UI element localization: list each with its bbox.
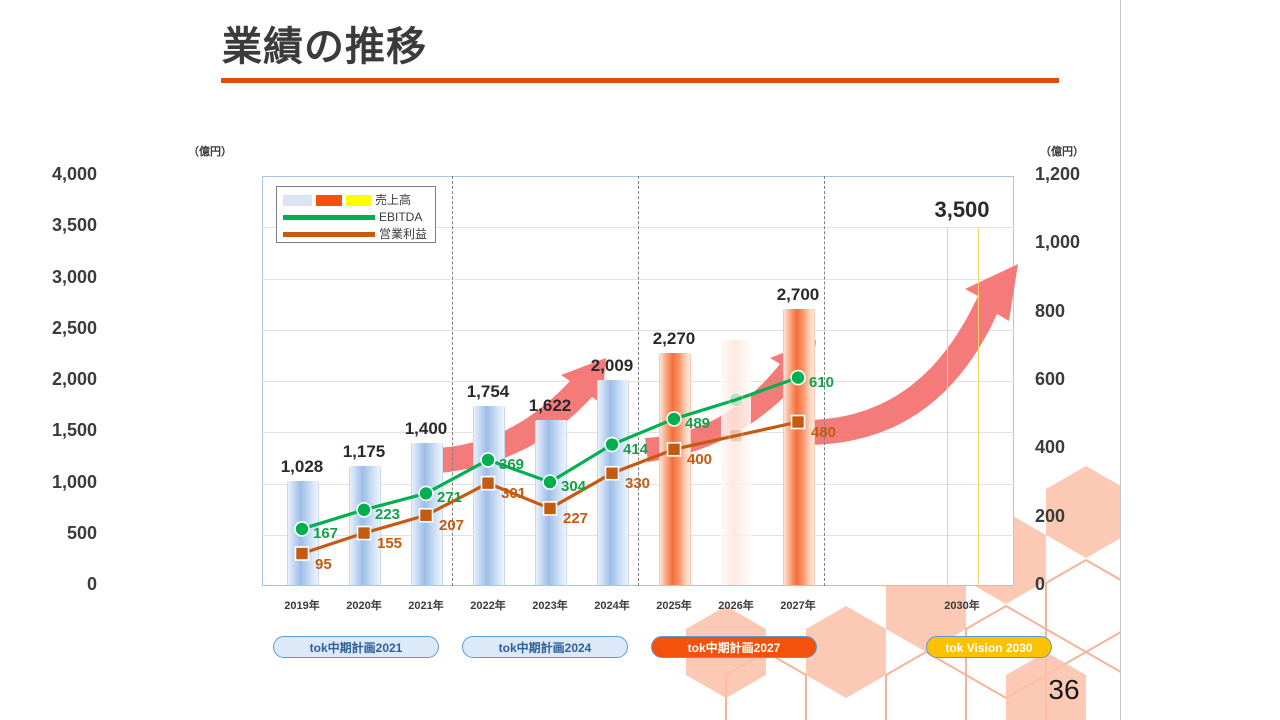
page-number: 36 [1048, 674, 1079, 706]
x-axis-tick: 2021年 [391, 597, 461, 613]
right-axis-tick: 1,200 [1035, 164, 1080, 185]
ebitda-marker [543, 475, 557, 489]
op-label-2027年: 480 [811, 424, 836, 441]
x-axis-tick: 2022年 [453, 597, 523, 613]
bar-label-2030年: 3,500 [917, 197, 1007, 223]
bar-label-2027年: 2,700 [753, 285, 843, 305]
left-axis-tick: 1,000 [52, 472, 97, 493]
ebitda-marker [791, 371, 805, 385]
left-axis-tick: 0 [87, 574, 97, 595]
right-axis-tick: 0 [1035, 574, 1045, 595]
ebitda-label-2025年: 489 [685, 415, 710, 432]
left-axis-tick: 3,500 [52, 215, 97, 236]
left-axis-tick: 500 [67, 523, 97, 544]
ebitda-label-2027年: 610 [809, 374, 834, 391]
ebitda-label-2022年: 369 [499, 456, 524, 473]
operating-income-marker [358, 527, 371, 540]
operating-income-marker [606, 467, 619, 480]
ebitda-marker [419, 486, 433, 500]
performance-chart: 1,0281,1751,4001,7541,6222,0092,2702,700… [262, 176, 1014, 586]
title-underline-rule [221, 78, 1059, 83]
legend-swatch-orange [316, 195, 341, 206]
right-axis-tick: 200 [1035, 506, 1065, 527]
right-axis-tick: 600 [1035, 369, 1065, 390]
bar-label-2020年: 1,175 [319, 442, 409, 462]
x-axis-tick: 2023年 [515, 597, 585, 613]
right-axis-tick: 800 [1035, 301, 1065, 322]
operating-income-marker [792, 416, 805, 429]
legend-row-sales: 売上高 [283, 192, 429, 208]
left-axis-tick: 3,000 [52, 267, 97, 288]
x-axis-tick: 2030年 [927, 597, 997, 613]
op-label-2022年: 301 [501, 485, 526, 502]
op-label-2019年: 95 [315, 556, 332, 573]
offslide-area [1121, 0, 1280, 720]
chart-legend: 売上高 EBITDA 営業利益 [276, 186, 436, 243]
ebitda-marker [295, 522, 309, 536]
x-axis-tick: 2024年 [577, 597, 647, 613]
left-axis-tick: 4,000 [52, 164, 97, 185]
x-axis-tick: 2019年 [267, 597, 337, 613]
legend-row-operating-income: 営業利益 [283, 226, 429, 242]
right-axis-tick: 400 [1035, 437, 1065, 458]
op-label-2020年: 155 [377, 535, 402, 552]
right-axis-tick: 1,000 [1035, 232, 1080, 253]
x-axis-tick: 2026年 [701, 597, 771, 613]
op-label-2024年: 330 [625, 475, 650, 492]
right-axis-unit: （億円） [1040, 143, 1084, 159]
plan-badge-1[interactable]: tok中期計画2021 [273, 636, 439, 658]
x-axis-tick: 2027年 [763, 597, 833, 613]
ebitda-label-2021年: 271 [437, 489, 462, 506]
ebitda-marker [357, 503, 371, 517]
legend-swatches-sales [283, 195, 375, 206]
ebitda-marker [667, 412, 681, 426]
op-label-2023年: 227 [563, 510, 588, 527]
ebitda-label-2019年: 167 [313, 525, 338, 542]
ebitda-marker [481, 453, 495, 467]
bar-label-2024年: 2,009 [567, 356, 657, 376]
operating-income-marker [420, 509, 433, 522]
plan-badge-4[interactable]: tok Vision 2030 [926, 636, 1052, 658]
x-axis-tick: 2020年 [329, 597, 399, 613]
bar-label-2021年: 1,400 [381, 419, 471, 439]
plan-badge-3[interactable]: tok中期計画2027 [651, 636, 817, 658]
legend-label-operating-income: 営業利益 [379, 228, 427, 240]
left-axis-tick: 2,500 [52, 318, 97, 339]
legend-label-ebitda: EBITDA [379, 211, 422, 223]
slide-canvas: 業績の推移 （億円） （億円） 4,0003,5003,0002,5002,00… [0, 0, 1121, 720]
left-axis-tick: 1,500 [52, 420, 97, 441]
operating-income-marker [482, 477, 495, 490]
operating-income-marker [730, 429, 743, 442]
x-axis-tick: 2025年 [639, 597, 709, 613]
operating-income-marker [296, 547, 309, 560]
ebitda-marker [729, 393, 743, 407]
legend-row-ebitda: EBITDA [283, 209, 429, 225]
plan-badge-2[interactable]: tok中期計画2024 [462, 636, 628, 658]
op-label-2021年: 207 [439, 517, 464, 534]
page-title: 業績の推移 [222, 14, 427, 72]
legend-line-ebitda [283, 215, 375, 220]
bar-label-2025年: 2,270 [629, 329, 719, 349]
operating-income-marker [668, 443, 681, 456]
operating-income-marker [544, 502, 557, 515]
bar-label-2023年: 1,622 [505, 396, 595, 416]
left-axis-tick: 2,000 [52, 369, 97, 390]
ebitda-label-2020年: 223 [375, 506, 400, 523]
ebitda-marker [605, 438, 619, 452]
op-label-2025年: 400 [687, 451, 712, 468]
ebitda-label-2023年: 304 [561, 478, 586, 495]
left-axis-unit: （億円） [188, 143, 232, 159]
ebitda-label-2024年: 414 [623, 441, 648, 458]
legend-line-operating-income [283, 232, 375, 237]
legend-swatch-yellow [346, 195, 371, 206]
legend-label-sales: 売上高 [375, 194, 411, 206]
legend-swatch-blue [283, 195, 312, 206]
